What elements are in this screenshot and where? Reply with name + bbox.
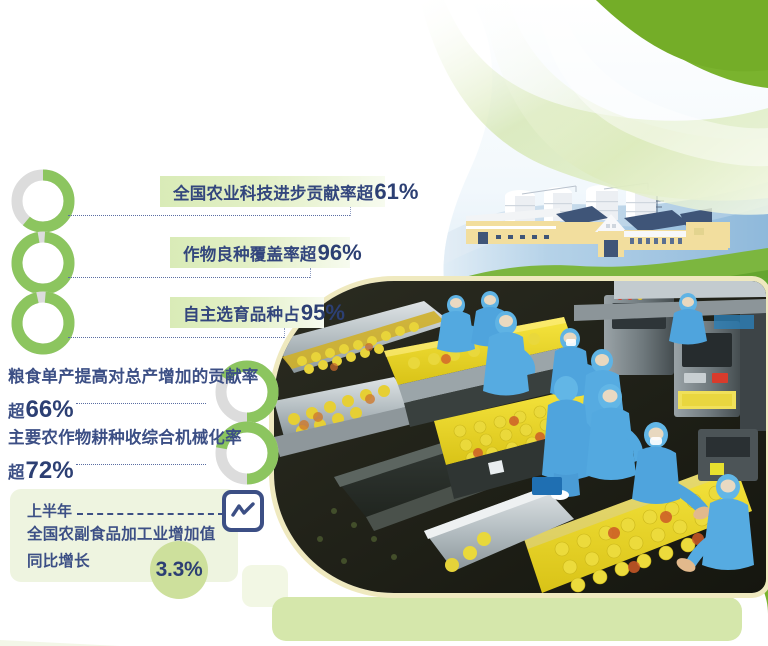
stat-label-1-text: 全国农业科技进步贡献率超 (173, 179, 373, 210)
connector-dots-3 (68, 337, 284, 339)
stat-label-3-text: 自主选育品种占 (183, 300, 300, 331)
connector-dots-1 (68, 215, 350, 217)
card-value-text: 3.3% (156, 558, 203, 582)
card-subject-label: 全国农副食品加工业增加值 (27, 522, 215, 544)
card-value-bubble: 3.3% (150, 541, 208, 599)
stat-row-4: 粮食单产提高对总产增加的贡献率 超 66% (8, 363, 259, 424)
line-chart-icon (222, 490, 264, 532)
bottom-green-bar (272, 597, 742, 641)
stat-row-4-value: 66% (26, 396, 74, 424)
stat-row-5-value: 72% (26, 457, 74, 485)
stat-label-3-value: 95% (301, 297, 345, 328)
stat-row-5-prefix: 超 (8, 459, 25, 483)
card-measure-label: 同比增长 (27, 549, 90, 571)
stat-label-2-value: 96% (318, 237, 362, 268)
donut-chart-1 (8, 166, 78, 236)
card-period-label: 上半年 (27, 500, 72, 521)
stat-row-5: 主要农作物耕种收综合机械化率 超 72% (8, 424, 242, 485)
stat-label-1-value: 61% (374, 176, 418, 207)
stat-row-4-prefix: 超 (8, 398, 25, 422)
stat-label-1: 全国农业科技进步贡献率超 61% (160, 176, 385, 207)
food-processing-factory-photo (274, 281, 766, 593)
stat-label-2-text: 作物良种覆盖率超 (183, 240, 317, 271)
connector-dots-2 (68, 277, 310, 279)
infographic-poster: 全国农业科技进步贡献率超 61% 作物良种覆盖率超 96% 自主选育品种占 95… (0, 0, 768, 646)
card-dashed-divider (77, 513, 224, 515)
stat-row-4-label: 粮食单产提高对总产增加的贡献率 (8, 363, 259, 387)
donut-chart-3 (8, 288, 78, 358)
stat-label-2: 作物良种覆盖率超 96% (170, 237, 350, 268)
stat-label-3: 自主选育品种占 95% (170, 297, 324, 328)
stat-row-5-label: 主要农作物耕种收综合机械化率 (8, 424, 242, 448)
